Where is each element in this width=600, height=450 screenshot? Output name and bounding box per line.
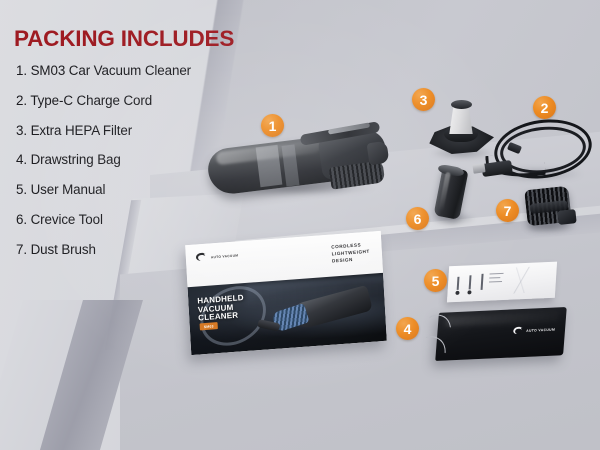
callout-badge-6[interactable]: 6 bbox=[406, 207, 429, 230]
manual-figure-bar bbox=[469, 275, 471, 289]
product-packing-infographic: PACKING INCLUDES 1. SM03 Car Vacuum Clea… bbox=[0, 0, 600, 450]
manual-figure-bar bbox=[457, 277, 459, 290]
product-charge-cord bbox=[480, 118, 590, 194]
packing-list-panel: PACKING INCLUDES 1. SM03 Car Vacuum Clea… bbox=[0, 0, 215, 450]
box-tagline: CORDLESS LIGHTWEIGHT DESIGN bbox=[331, 241, 370, 265]
product-crevice-tool bbox=[432, 168, 476, 224]
hepa-filter-cap bbox=[451, 100, 472, 109]
bag-brand-wordmark: AUTO VACUUM bbox=[526, 328, 555, 333]
callout-badge-1[interactable]: 1 bbox=[261, 114, 284, 137]
box-headline: HANDHELD VACUUM CLEANER bbox=[197, 294, 245, 324]
callout-badge-3[interactable]: 3 bbox=[412, 88, 435, 111]
brand-swoosh-icon bbox=[511, 326, 524, 337]
box-brand-wordmark: AUTO VACUUM bbox=[211, 253, 239, 259]
manual-figure-bar bbox=[481, 274, 484, 290]
packing-list: 1. SM03 Car Vacuum Cleaner 2. Type-C Cha… bbox=[16, 64, 216, 273]
list-item: 2. Type-C Charge Cord bbox=[16, 94, 216, 107]
list-item: 5. User Manual bbox=[16, 183, 216, 196]
manual-bullet-icon bbox=[455, 291, 459, 295]
callout-badge-5[interactable]: 5 bbox=[424, 269, 447, 292]
callout-badge-7[interactable]: 7 bbox=[496, 199, 519, 222]
brand-swoosh-icon bbox=[195, 252, 209, 264]
dust-brush-neck bbox=[557, 209, 576, 225]
callout-badge-2[interactable]: 2 bbox=[533, 96, 556, 119]
list-item: 4. Drawstring Bag bbox=[16, 153, 216, 166]
manual-bullet-icon bbox=[467, 290, 471, 294]
list-item: 1. SM03 Car Vacuum Cleaner bbox=[16, 64, 216, 77]
list-item: 6. Crevice Tool bbox=[16, 213, 216, 226]
product-drawstring-bag: AUTO VACUUM bbox=[435, 307, 567, 361]
bag-brand-logo: AUTO VACUUM bbox=[511, 325, 555, 337]
product-dust-brush bbox=[520, 184, 580, 236]
product-retail-box: AUTO VACUUM CORDLESS LIGHTWEIGHT DESIGN … bbox=[185, 231, 387, 355]
list-item: 3. Extra HEPA Filter bbox=[16, 124, 216, 137]
product-user-manual bbox=[447, 262, 557, 303]
page-title: PACKING INCLUDES bbox=[14, 26, 234, 52]
callout-badge-4[interactable]: 4 bbox=[396, 317, 419, 340]
product-vacuum-cleaner bbox=[208, 124, 386, 202]
